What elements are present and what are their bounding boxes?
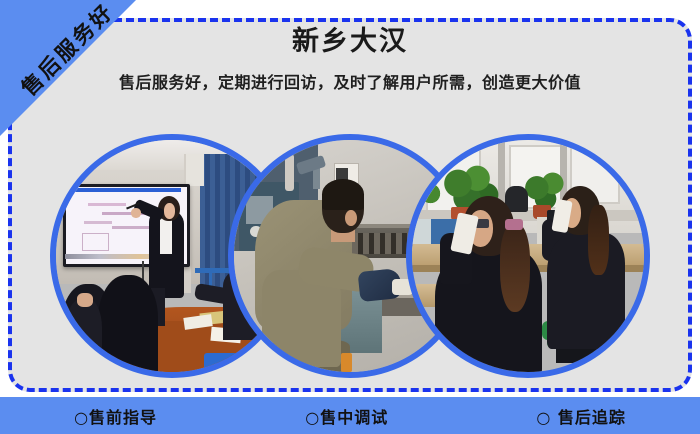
service-stage-after-sales: ○ 售后追踪 [536, 404, 626, 428]
service-stage-pre-sales: ○售前指导 [74, 404, 157, 428]
after-sales-service-banner: 新乡大汉 售后服务好，定期进行回访，及时了解用户所需，创造更大价值 [0, 0, 700, 434]
service-stage-pre-sales-label: 售前指导 [89, 408, 157, 427]
service-stage-marker-icon: ○ [536, 408, 551, 427]
photo-phone-support-image [412, 140, 644, 372]
service-stage-in-sales: ○售中调试 [305, 404, 388, 428]
service-stage-in-sales-label: 售中调试 [320, 408, 388, 427]
photo-phone-support [406, 134, 650, 378]
photo-row [0, 134, 700, 380]
service-stage-marker-icon: ○ [305, 408, 320, 427]
service-stages-bar: ○售前指导 ○售中调试 ○ 售后追踪 [0, 397, 700, 434]
service-stage-marker-icon: ○ [74, 408, 89, 427]
service-stage-after-sales-label: 售后追踪 [558, 408, 626, 427]
